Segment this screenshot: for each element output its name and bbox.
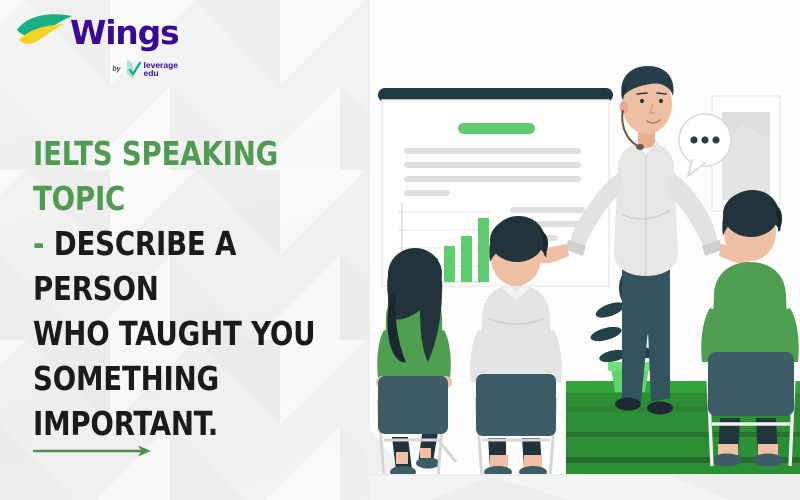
illustration-svg — [370, 0, 800, 500]
headline-line-2-text: DESCRIBE A PERSON — [33, 224, 236, 308]
headline-line-3: WHO TAUGHT YOU — [33, 311, 349, 356]
by-label: by — [112, 66, 120, 73]
right-arrow-icon — [33, 443, 158, 459]
speech-bubble-dots — [690, 136, 719, 143]
wings-logo[interactable]: Wings by leverage edu — [14, 8, 184, 94]
wings-wordmark: Wings — [70, 16, 178, 49]
wings-logo-row: Wings — [14, 8, 184, 56]
board-title-chip — [458, 123, 535, 134]
wing-swoosh-icon — [14, 12, 76, 52]
wings-sublogo: by leverage edu — [14, 58, 184, 80]
headline-line-1: IELTS SPEAKING TOPIC — [33, 131, 349, 221]
headline-line-5: IMPORTANT. — [33, 401, 349, 446]
headline-line-2: - DESCRIBE A PERSON — [33, 221, 349, 311]
classroom-illustration — [370, 0, 800, 500]
page-title: IELTS SPEAKING TOPIC - DESCRIBE A PERSON… — [33, 131, 349, 446]
headline-accent-text: IELTS SPEAKING TOPIC — [33, 134, 278, 218]
leverage-check-icon — [125, 58, 141, 80]
edu-text: edu — [144, 68, 159, 78]
promo-banner: Wings by leverage edu — [0, 0, 800, 500]
headline-dash: - — [33, 224, 44, 263]
leverage-edu-wordmark: leverage edu — [144, 61, 179, 78]
headline-line-4: SOMETHING — [33, 356, 349, 401]
